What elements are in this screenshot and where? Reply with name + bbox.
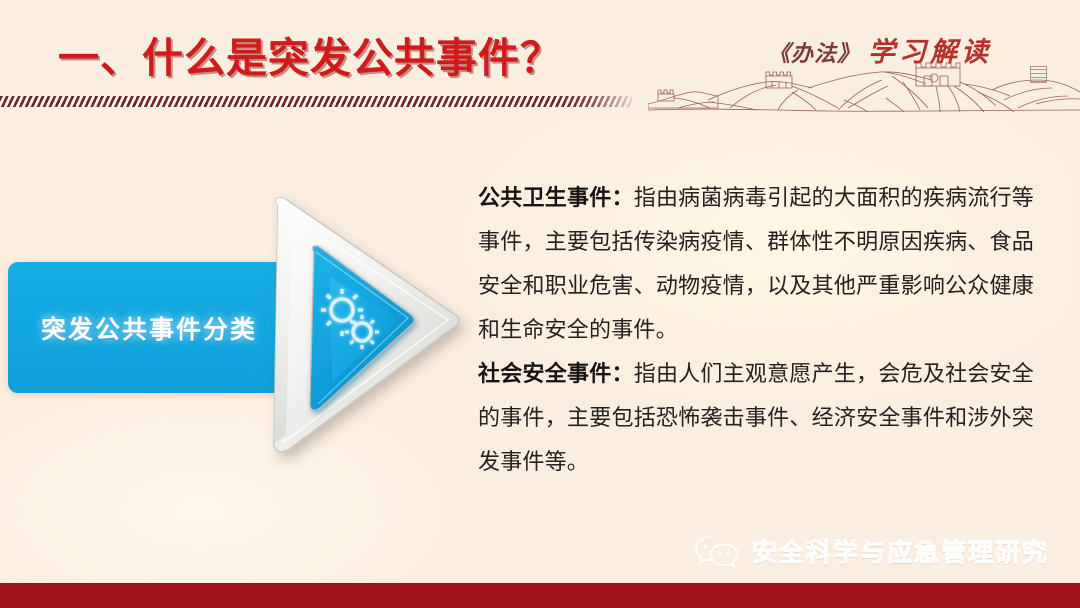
category-label-bar[interactable]: 突发公共事件分类 (8, 262, 290, 393)
footer-label: 安全科学与应急管理研究 (752, 533, 1049, 569)
content-body: 公共卫生事件：指由病菌病毒引起的大面积的疾病流行等事件，主要包括传染病疫情、群体… (478, 176, 1034, 484)
paragraph-lead: 公共卫生事件： (478, 185, 634, 210)
hatched-divider-fade (560, 96, 632, 107)
calligraphy-bracket: 《办法》 (768, 36, 860, 68)
wechat-icon (694, 534, 740, 568)
category-label-text: 突发公共事件分类 (41, 310, 257, 346)
paragraph-public-health: 公共卫生事件：指由病菌病毒引起的大面积的疾病流行等事件，主要包括传染病疫情、群体… (478, 176, 1034, 352)
play-triangle-graphic (258, 190, 468, 462)
hatched-divider (0, 96, 632, 107)
header-calligraphy: 《办法》 学习解读 (768, 30, 992, 69)
paragraph-social-security: 社会安全事件：指由人们主观意愿产生，会危及社会安全的事件，主要包括恐怖袭击事件、… (478, 352, 1034, 484)
footer-branding: 安全科学与应急管理研究 (694, 533, 1049, 569)
bottom-red-bar (0, 583, 1080, 608)
slide-root: 一、什么是突发公共事件？ (0, 0, 1080, 608)
red-seal-stamp (1030, 66, 1047, 83)
calligraphy-main: 学习解读 (868, 30, 992, 69)
page-title: 一、什么是突发公共事件？ (58, 24, 562, 84)
paragraph-lead: 社会安全事件： (478, 361, 634, 386)
